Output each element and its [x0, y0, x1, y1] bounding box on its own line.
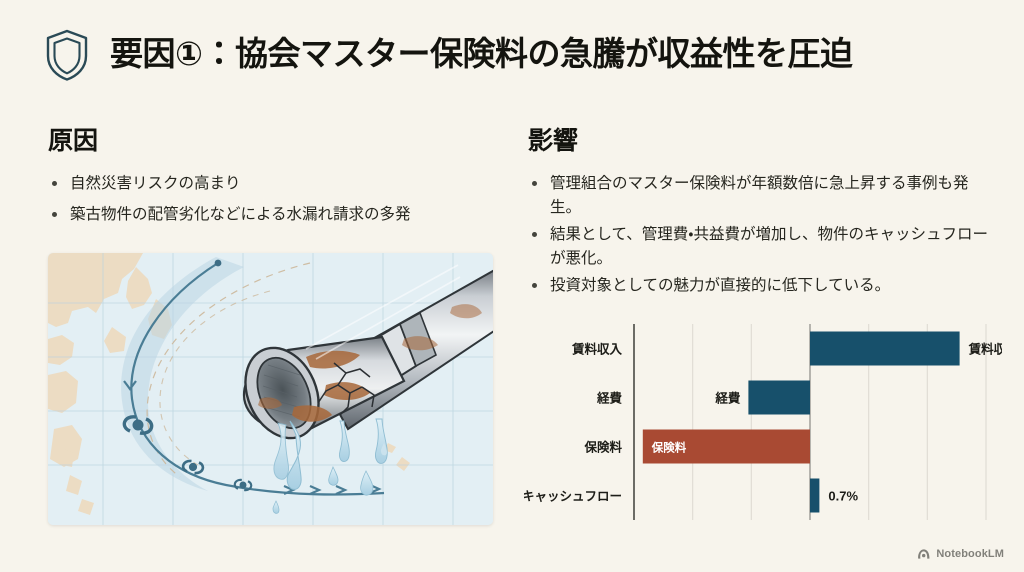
- list-item: 築古物件の配管劣化などによる水漏れ請求の多発: [48, 203, 500, 227]
- page-title: 要因①：協会マスター保険料の急騰が収益性を圧迫: [110, 36, 852, 72]
- chart-bars: [643, 332, 960, 513]
- watermark-label: NotebookLM: [936, 548, 1004, 560]
- chart-value-labels: 賃料収入経費保険料0.7%: [651, 342, 1002, 504]
- chart-canvas: 賃料収入経費保険料キャッシュフロー 賃料収入経費保険料0.7%: [524, 318, 1002, 526]
- chart-bar-label: 保険料: [651, 441, 687, 455]
- chart-bar-label: 賃料収入: [968, 342, 1002, 357]
- typhoon-pipe-illustration: [48, 253, 493, 525]
- shield-icon: [44, 28, 90, 82]
- chart-bar: [810, 332, 960, 366]
- list-item: 自然災害リスクの高まり: [48, 172, 500, 196]
- cashflow-waterfall-chart: 賃料収入経費保険料キャッシュフロー 賃料収入経費保険料0.7%: [524, 318, 1002, 526]
- notebooklm-logo-icon: [917, 548, 931, 560]
- impact-bullet-list: 管理組合のマスター保険料が年額数倍に急上昇する事例も発生。 結果として、管理費・…: [528, 172, 990, 298]
- chart-bar: [810, 479, 819, 513]
- right-column-heading: 影響: [528, 126, 990, 156]
- list-item: 管理組合のマスター保険料が年額数倍に急上昇する事例も発生。: [528, 172, 990, 219]
- chart-category-label: 保険料: [583, 440, 622, 455]
- list-item: 結果として、管理費・共益費が増加し、物件のキャッシュフローが悪化。: [528, 223, 990, 270]
- list-item: 投資対象としての魅力が直接的に低下している。: [528, 274, 990, 298]
- notebooklm-watermark: NotebookLM: [917, 548, 1004, 560]
- left-column: 原因 自然災害リスクの高まり 築古物件の配管劣化などによる水漏れ請求の多発: [48, 126, 500, 233]
- chart-category-label: 賃料収入: [571, 342, 623, 357]
- chart-bar: [748, 381, 810, 415]
- slide-header: 要因①：協会マスター保険料の急騰が収益性を圧迫: [0, 0, 1024, 108]
- left-column-heading: 原因: [48, 126, 500, 156]
- chart-category-label: キャッシュフロー: [524, 490, 622, 504]
- chart-category-labels: 賃料収入経費保険料キャッシュフロー: [524, 342, 622, 504]
- cause-bullet-list: 自然災害リスクの高まり 築古物件の配管劣化などによる水漏れ請求の多発: [48, 172, 500, 226]
- chart-bar-label: 経費: [714, 391, 741, 406]
- chart-bar-label: 0.7%: [828, 489, 858, 504]
- right-column: 影響 管理組合のマスター保険料が年額数倍に急上昇する事例も発生。 結果として、管…: [528, 126, 990, 302]
- chart-category-label: 経費: [596, 391, 623, 406]
